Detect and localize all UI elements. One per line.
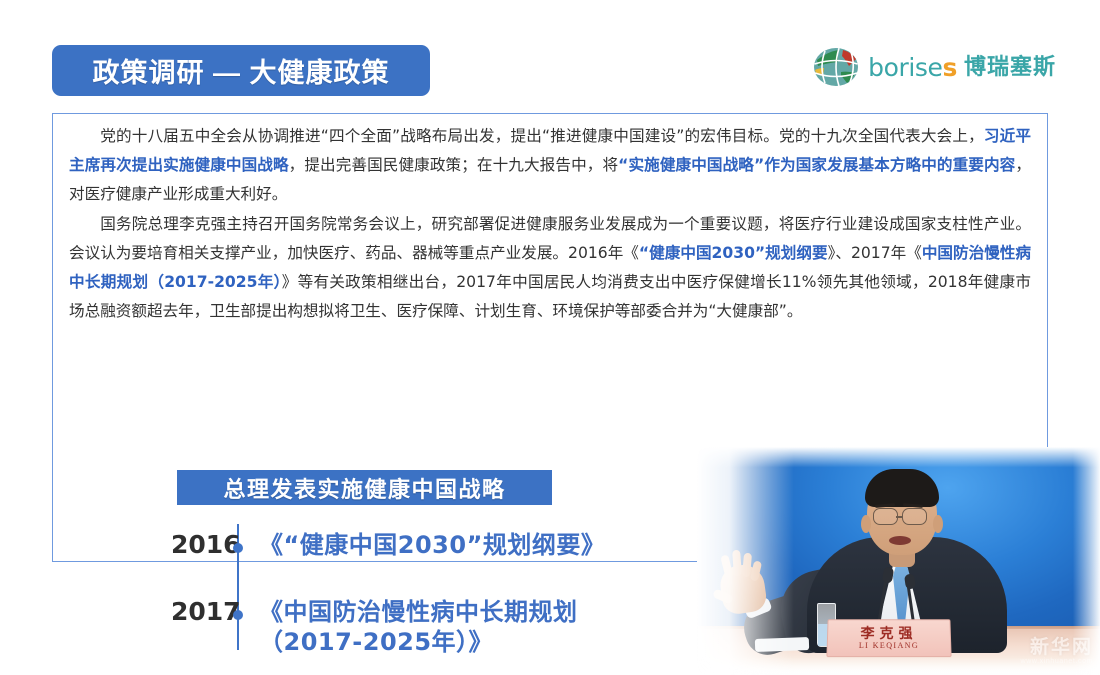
photo-papers: [755, 637, 809, 652]
logo-chinese-text: 博瑞塞斯: [964, 56, 1056, 78]
logo-latin-accent: s: [943, 53, 957, 82]
paragraph-2: 国务院总理李克强主持召开国务院常务会议上，研究部署促进健康服务业发展成为一个重要…: [69, 210, 1031, 326]
page-title-bar: 政策调研 — 大健康政策: [52, 45, 430, 96]
timeline-item-2017: 2017 《中国防治慢性病中长期规划 （2017-2025年）》: [171, 597, 578, 657]
logo-latin-text: borises: [868, 55, 957, 80]
logo-wordmark: borises 博瑞塞斯: [868, 55, 1056, 80]
section-banner: 总理发表实施健康中国战略: [177, 470, 552, 505]
section-banner-label: 总理发表实施健康中国战略: [223, 472, 505, 504]
photo-hair: [865, 469, 939, 507]
timeline-title: 《中国防治慢性病中长期规划 （2017-2025年）》: [259, 597, 578, 657]
photo-eyeglass-right: [902, 508, 927, 525]
photo-eyeglass-left: [873, 508, 898, 525]
photo-nameplate: 李克强 LI KEQIANG: [826, 619, 951, 657]
highlighted-text-run: “健康中国2030”规划纲要: [639, 244, 828, 262]
text-run: ，提出完善国民健康政策；在十九大报告中，将: [289, 156, 618, 174]
photo-ear-right: [933, 515, 943, 533]
timeline-title: 《“健康中国2030”规划纲要》: [259, 530, 605, 560]
timeline-year: 2016: [171, 530, 231, 560]
watermark-chinese: 新华网: [1021, 638, 1093, 658]
paragraph-1: 党的十八届五中全会从协调推进“四个全面”战略布局出发，提出“推进健康中国建设”的…: [69, 122, 1031, 209]
photo-watermark: 新华网 www.xinhuanet.com: [1021, 638, 1093, 665]
timeline-item-2016: 2016 《“健康中国2030”规划纲要》: [171, 530, 605, 560]
press-conference-photo: 李克强 LI KEQIANG 新华网 www.xinhuanet.com: [697, 447, 1100, 675]
nameplate-english: LI KEQIANG: [859, 640, 919, 650]
timeline-year: 2017: [171, 597, 231, 627]
slide-root: 政策调研 — 大健康政策 borises 博瑞塞斯 党的十八届五中全会从协调推进…: [0, 0, 1100, 616]
logo-latin-prefix: borise: [868, 53, 942, 82]
photo-mouth: [889, 536, 911, 545]
photo-content: 李克强 LI KEQIANG 新华网 www.xinhuanet.com: [697, 447, 1100, 675]
brand-logo: borises 博瑞塞斯: [813, 44, 1056, 90]
highlighted-text-run: “实施健康中国战略”作为国家发展基本方略中的重要内容: [618, 156, 1015, 174]
nameplate-chinese: 李克强: [860, 626, 917, 641]
photo-eyeglass-bridge: [896, 516, 902, 518]
text-run: 党的十八届五中全会从协调推进“四个全面”战略布局出发，提出“推进健康中国建设”的…: [100, 127, 984, 145]
content-box: 党的十八届五中全会从协调推进“四个全面”战略布局出发，提出“推进健康中国建设”的…: [52, 113, 1048, 562]
globe-logo-icon: [813, 46, 859, 88]
text-run: 》、2017年《: [828, 244, 922, 262]
timeline-dot-icon: [233, 543, 243, 553]
policy-timeline: 2016 《“健康中国2030”规划纲要》 2017 《中国防治慢性病中长期规划…: [171, 522, 691, 662]
page-title: 政策调研 — 大健康政策: [92, 51, 389, 90]
watermark-url: www.xinhuanet.com: [1021, 658, 1093, 665]
photo-microphone-head: [904, 573, 916, 589]
photo-finger: [732, 550, 742, 576]
body-paragraphs: 党的十八届五中全会从协调推进“四个全面”战略布局出发，提出“推进健康中国建设”的…: [69, 122, 1031, 327]
photo-ear-left: [861, 515, 871, 533]
timeline-dot-icon: [233, 610, 243, 620]
